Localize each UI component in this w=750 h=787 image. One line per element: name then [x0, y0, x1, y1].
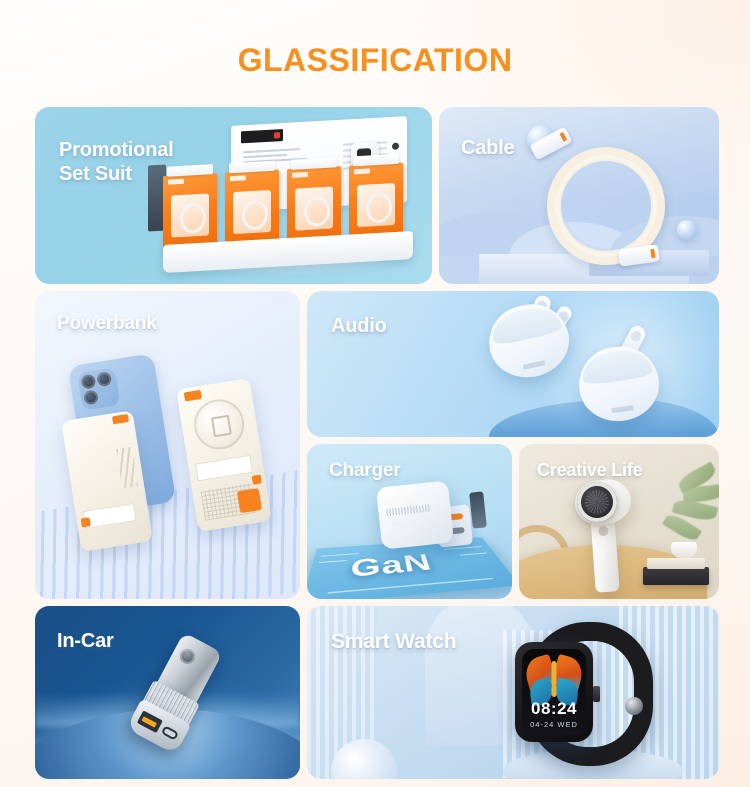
- category-card-audio[interactable]: Audio: [307, 291, 719, 437]
- category-card-powerbank[interactable]: Powerbank: [35, 291, 300, 599]
- card-label-cable: Cable: [461, 137, 514, 161]
- category-card-creative-life[interactable]: Creative Life: [519, 444, 719, 599]
- category-card-cable[interactable]: Cable: [439, 107, 719, 284]
- category-grid: Promotional Set Suit Cable: [35, 107, 719, 779]
- watch-date: 04-24 WED: [522, 720, 586, 729]
- powerbank-illustration: [35, 291, 300, 599]
- card-label-charger: Charger: [329, 460, 400, 482]
- page-title: GLASSIFICATION: [0, 0, 750, 76]
- card-label-in-car: In-Car: [57, 630, 114, 654]
- card-label-smart-watch: Smart Watch: [331, 630, 456, 655]
- audio-illustration: [307, 291, 719, 437]
- card-label-creative-life: Creative Life: [537, 460, 642, 481]
- card-label-audio: Audio: [331, 315, 387, 339]
- card-label-promotional-set-suit: Promotional Set Suit: [59, 139, 173, 186]
- cable-illustration: [439, 107, 719, 284]
- watch-time: 08:24: [522, 700, 586, 717]
- category-card-smart-watch[interactable]: 08:24 04-24 WED Smart Watch: [307, 606, 719, 779]
- promotional-set-suit-illustration: [35, 107, 432, 284]
- category-card-in-car[interactable]: In-Car: [35, 606, 300, 779]
- card-label-powerbank: Powerbank: [57, 313, 157, 335]
- category-card-promotional-set-suit[interactable]: Promotional Set Suit: [35, 107, 432, 284]
- category-card-charger[interactable]: GaN Charger: [307, 444, 512, 599]
